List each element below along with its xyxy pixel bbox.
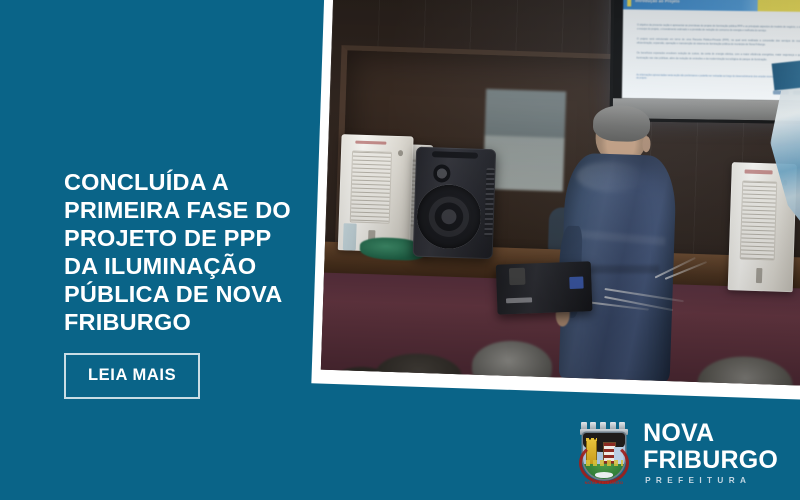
page-title: CONCLUÍDA A PRIMEIRA FASE DO PROJETO DE …: [64, 168, 308, 336]
coat-of-arms-icon: NOVA FRIBURGO: [576, 420, 632, 486]
projector-label: [506, 297, 533, 303]
logo-line-friburgo: FRIBURGO: [643, 448, 778, 473]
flag-pole-top: [771, 57, 800, 90]
presenter-hair: [592, 105, 651, 142]
portable-loudspeaker: [412, 146, 496, 259]
slide-accent-bar: [627, 0, 632, 7]
news-banner: Introdução ao Projeto O objetivo da pres…: [0, 0, 800, 500]
water-bottle: [342, 223, 356, 250]
speaker-ribs: [485, 168, 494, 237]
slide-title: Introdução ao Projeto: [635, 0, 679, 4]
shield-tower-crenellation: [586, 438, 597, 441]
speaker-handle-icon: [432, 151, 479, 158]
slide-paragraph: Os benefícios esperados envolvem redução…: [636, 52, 800, 63]
video-projector: [496, 261, 593, 315]
cooler-grille-icon: [739, 181, 777, 261]
speaker-woofer-icon: [416, 184, 482, 250]
projector-badge: [570, 276, 584, 289]
motto-ring: [579, 442, 629, 484]
speaker-tweeter-icon: [433, 164, 451, 182]
slide-paragraph: O projeto será estruturado em torno de u…: [636, 38, 800, 49]
cooler-label: [355, 140, 386, 144]
logo-wordmark: NOVA FRIBURGO PREFEITURA: [643, 421, 778, 485]
slide-body: O objetivo da presente seção é apresenta…: [621, 9, 800, 101]
prefeitura-logo[interactable]: NOVA FRIBURGO NOVA FRIBURGO PREFEITURA: [576, 420, 778, 486]
cooler-label: [745, 169, 773, 174]
read-more-button[interactable]: LEIA MAIS: [64, 353, 200, 399]
projector-lens-icon: [509, 268, 525, 286]
slide-paragraph: O objetivo da presente seção é apresenta…: [636, 24, 800, 35]
presenter-person: [559, 107, 678, 381]
presenter-ear: [642, 136, 651, 153]
cooler-grille-icon: [350, 151, 392, 224]
logo-line-nova: NOVA: [643, 421, 778, 446]
motto-text: NOVA FRIBURGO: [576, 480, 632, 485]
logo-subtitle: PREFEITURA: [645, 477, 778, 485]
projection-screen: Introdução ao Projeto O objetivo da pres…: [609, 0, 800, 125]
cooler-vent-icon: [755, 268, 762, 284]
photo-card: Introdução ao Projeto O objetivo da pres…: [311, 0, 800, 401]
cooler-knob-icon: [398, 150, 403, 156]
auditorium-photo: Introdução ao Projeto O objetivo da pres…: [321, 0, 800, 386]
